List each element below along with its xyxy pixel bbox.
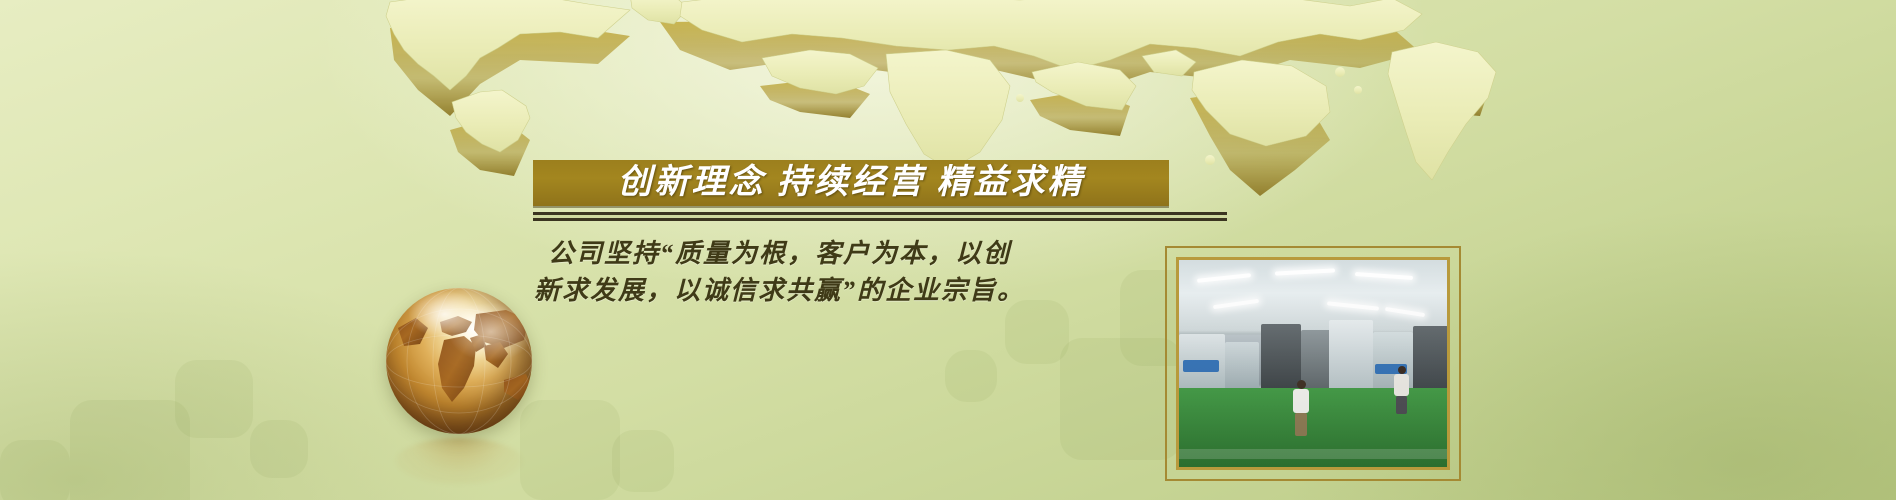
ceiling-light — [1327, 301, 1379, 310]
photo-frame-outer — [1165, 246, 1461, 481]
ceiling-light — [1213, 299, 1259, 309]
company-motto-paragraph: 公司坚持“质量为根，客户为本，以创 新求发展，以诚信求共赢”的企业宗旨。 — [548, 236, 1068, 310]
worker-figure — [1393, 366, 1411, 414]
worker-legs — [1295, 413, 1307, 436]
watermark-square — [250, 420, 308, 478]
machine-panel — [1183, 360, 1219, 372]
worker-legs — [1396, 396, 1407, 414]
divider-line-bottom — [533, 218, 1227, 221]
watermark-square — [0, 440, 70, 500]
motto-line-2: 新求发展，以诚信求共赢”的企业宗旨。 — [548, 273, 1068, 310]
factory-photo — [1179, 260, 1447, 467]
floor-walkway — [1179, 449, 1447, 459]
watermark-square — [175, 360, 253, 438]
golden-globe — [380, 288, 540, 488]
banner-stage: 创新理念 持续经营 精益求精 公司坚持“质量为根，客户为本，以创 新求发展，以诚… — [0, 0, 1896, 500]
worker-figure — [1291, 380, 1311, 436]
worker-torso — [1293, 389, 1309, 413]
headline-text: 创新理念 持续经营 精益求精 — [533, 160, 1169, 206]
ceiling-light — [1385, 307, 1425, 317]
globe-sphere — [386, 288, 532, 434]
globe-reflection — [396, 438, 522, 484]
worker-head — [1297, 380, 1306, 389]
watermark-square — [612, 430, 674, 492]
watermark-square — [70, 400, 190, 500]
watermark-square — [1060, 338, 1182, 460]
divider-double-rule — [533, 212, 1227, 221]
ceiling-light — [1275, 268, 1335, 275]
motto-line-1: 公司坚持“质量为根，客户为本，以创 — [548, 236, 1068, 273]
ceiling-light — [1197, 273, 1251, 283]
watermark-square — [945, 350, 997, 402]
ceiling-light — [1355, 272, 1413, 280]
worker-torso — [1394, 374, 1409, 396]
worker-head — [1398, 366, 1406, 374]
photo-frame-inner — [1176, 257, 1450, 470]
headline-banner: 创新理念 持续经营 精益求精 — [533, 160, 1169, 206]
